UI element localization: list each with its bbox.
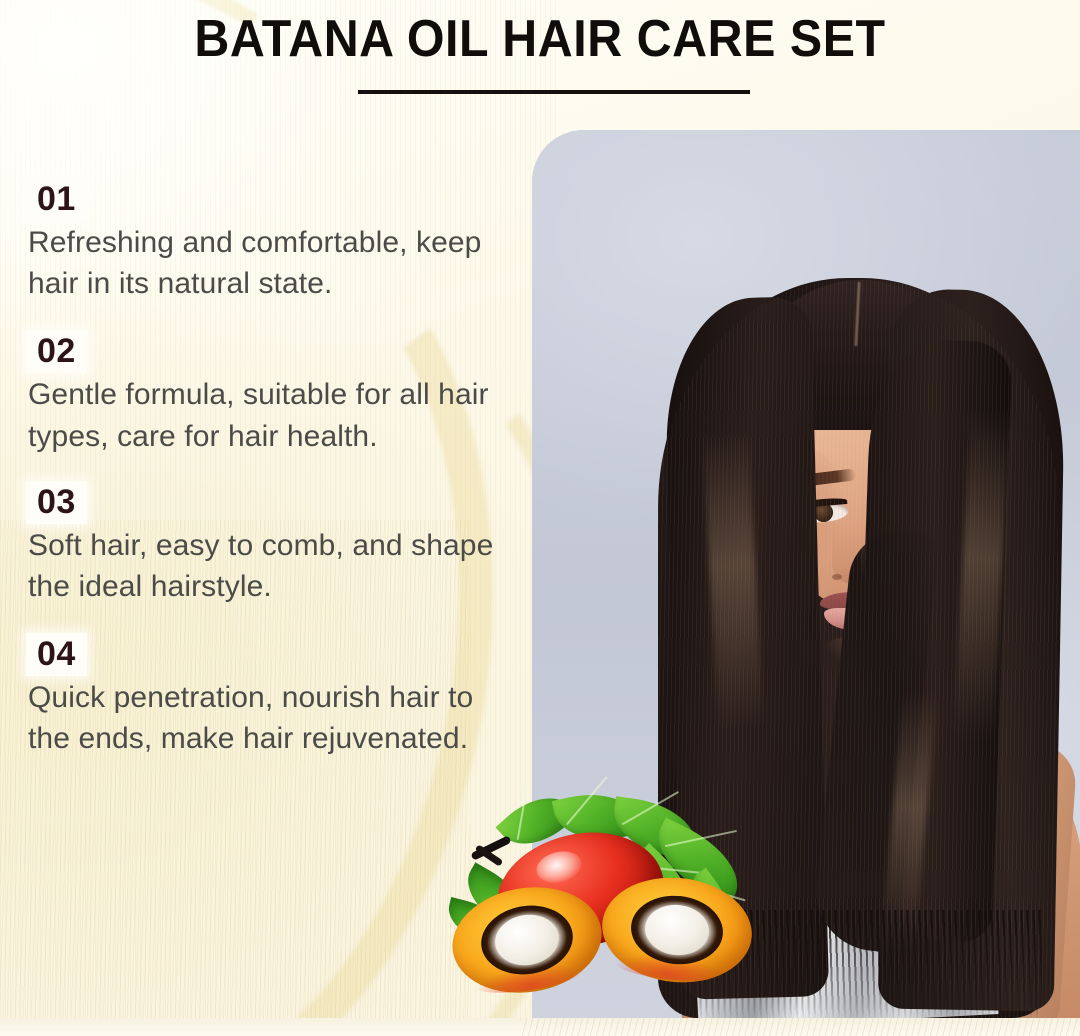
feature-text-03: Soft hair, easy to comb, and shape the i… [0,525,508,607]
poster-root: BATANA OIL HAIR CARE SET 01 Refreshing a… [0,0,1080,1036]
bottom-strip-texture [520,1018,1080,1036]
page-title: BATANA OIL HAIR CARE SET [38,12,1042,67]
feature-text-02: Gentle formula, suitable for all hair ty… [0,374,508,456]
feature-item-01: 01 Refreshing and comfortable, keep hair… [0,178,520,304]
feature-number-badge-03: 03 [26,481,87,524]
feature-text-01: Refreshing and comfortable, keep hair in… [0,222,508,304]
feature-number-badge-04: 04 [26,633,87,676]
feature-number-badge-01: 01 [26,178,87,221]
feature-number-badge-02: 02 [26,330,87,373]
feature-list: 01 Refreshing and comfortable, keep hair… [0,178,520,759]
feature-text-04: Quick penetration, nourish hair to the e… [0,677,508,759]
batana-fruit-cluster [444,792,794,1006]
title-divider-rule [358,90,750,94]
feature-item-03: 03 Soft hair, easy to comb, and shape th… [0,481,520,607]
feature-item-02: 02 Gentle formula, suitable for all hair… [0,330,520,456]
feature-item-04: 04 Quick penetration, nourish hair to th… [0,633,520,759]
page-title-container: BATANA OIL HAIR CARE SET [0,12,1080,67]
